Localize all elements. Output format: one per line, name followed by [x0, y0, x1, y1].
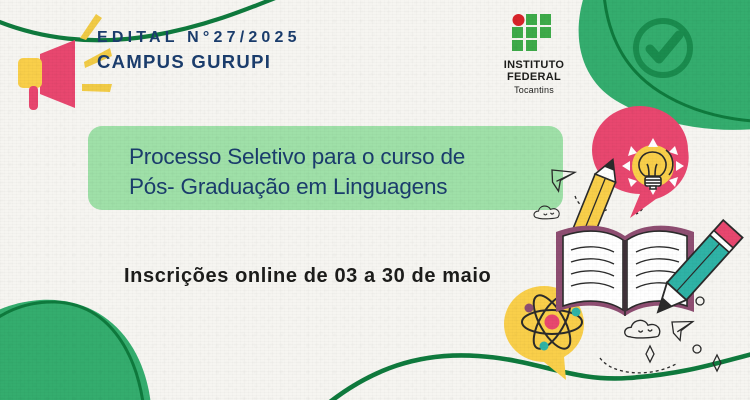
- paper-plane-icon: [670, 316, 697, 342]
- registration-period-text: Inscrições online de 03 a 30 de maio: [124, 265, 491, 288]
- study-illustration: [0, 0, 750, 400]
- cloud-doodle-icon: [534, 206, 559, 219]
- cloud-doodle-icon: [625, 320, 660, 338]
- poster-canvas: EDITAL N°27/2025 CAMPUS GURUPI INSTITUTO…: [0, 0, 750, 400]
- paper-plane-icon: [550, 165, 578, 192]
